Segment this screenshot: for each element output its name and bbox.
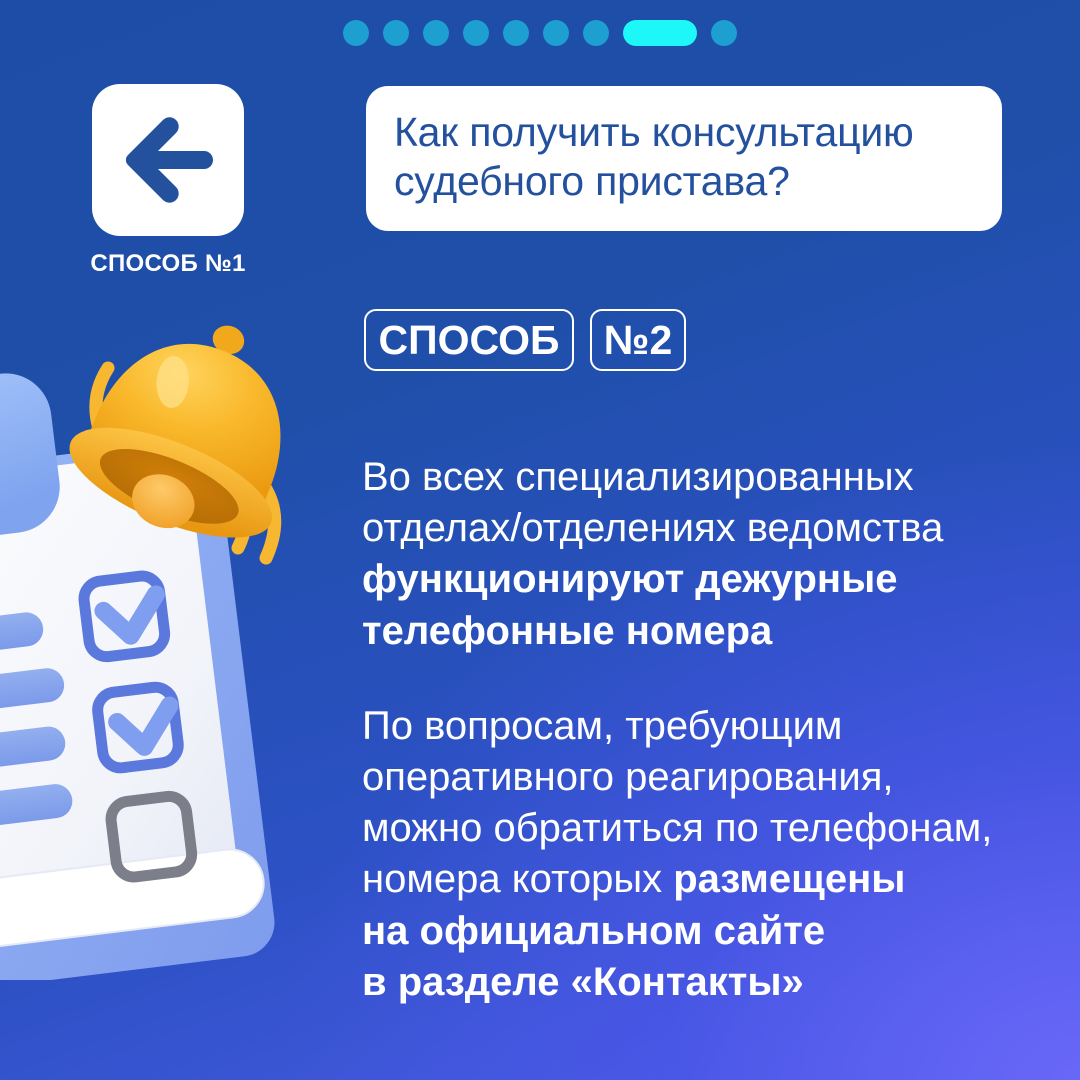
title-card: Как получить консультацию судебного прис…: [366, 86, 1002, 231]
page-title-line-1: Как получить консультацию: [394, 108, 974, 157]
paragraph-1-line-2: отделах/отделениях ведомства: [362, 503, 1022, 554]
paragraph-2-line-5: на официальном сайте: [362, 906, 1022, 957]
paragraph-2-line-1: По вопросам, требующим: [362, 701, 1022, 752]
paragraph-1-line-3: функционируют дежурные: [362, 554, 1022, 605]
page-title-line-2: судебного пристава?: [394, 157, 974, 206]
pagination-dots: [0, 20, 1080, 46]
paragraph-2-line-4-bold: размещены: [673, 857, 905, 901]
method-2-badge-number: №2: [590, 309, 686, 371]
paragraph-2-line-6: в разделе «Контакты»: [362, 957, 1022, 1008]
pagination-dot[interactable]: [543, 20, 569, 46]
pagination-dot[interactable]: [503, 20, 529, 46]
poster-canvas: СПОСОБ №1 Как получить консультацию суде…: [0, 0, 1080, 1080]
pagination-dot[interactable]: [423, 20, 449, 46]
method-1-label: СПОСОБ №1: [90, 250, 245, 278]
paragraph-2-line-2: оперативного реагирования,: [362, 752, 1022, 803]
paragraph-1-line-4: телефонные номера: [362, 606, 1022, 657]
paragraph-spacer: [362, 657, 1022, 701]
paragraph-2-line-4: номера которых размещены: [362, 854, 1022, 905]
paragraph-1-line-1: Во всех специализированных: [362, 452, 1022, 503]
method-1-block: СПОСОБ №1: [88, 84, 248, 278]
paragraph-1-line-4-bold: телефонные номера: [362, 609, 772, 653]
paragraph-1-line-3-bold: функционируют дежурные: [362, 557, 897, 601]
body-copy: Во всех специализированных отделах/отдел…: [362, 452, 1022, 1008]
page-title: Как получить консультацию судебного прис…: [394, 108, 974, 206]
pagination-dot[interactable]: [383, 20, 409, 46]
pagination-dot[interactable]: [711, 20, 737, 46]
paragraph-2-line-5-bold: на официальном сайте: [362, 909, 825, 953]
paragraph-2-line-4-prefix: номера которых: [362, 857, 673, 901]
pagination-dot[interactable]: [343, 20, 369, 46]
arrow-left-icon: [116, 112, 220, 208]
method-2-badges: СПОСОБ №2: [364, 309, 686, 371]
pagination-dot[interactable]: [463, 20, 489, 46]
arrow-left-button[interactable]: [92, 84, 244, 236]
paragraph-2-line-6-bold: в разделе «Контакты»: [362, 960, 804, 1004]
pagination-dot-active[interactable]: [623, 20, 697, 46]
paragraph-2-line-3: можно обратиться по телефонам,: [362, 803, 1022, 854]
clipboard-with-bell-illustration: [0, 300, 358, 980]
pagination-dot[interactable]: [583, 20, 609, 46]
method-2-badge-label: СПОСОБ: [364, 309, 574, 371]
